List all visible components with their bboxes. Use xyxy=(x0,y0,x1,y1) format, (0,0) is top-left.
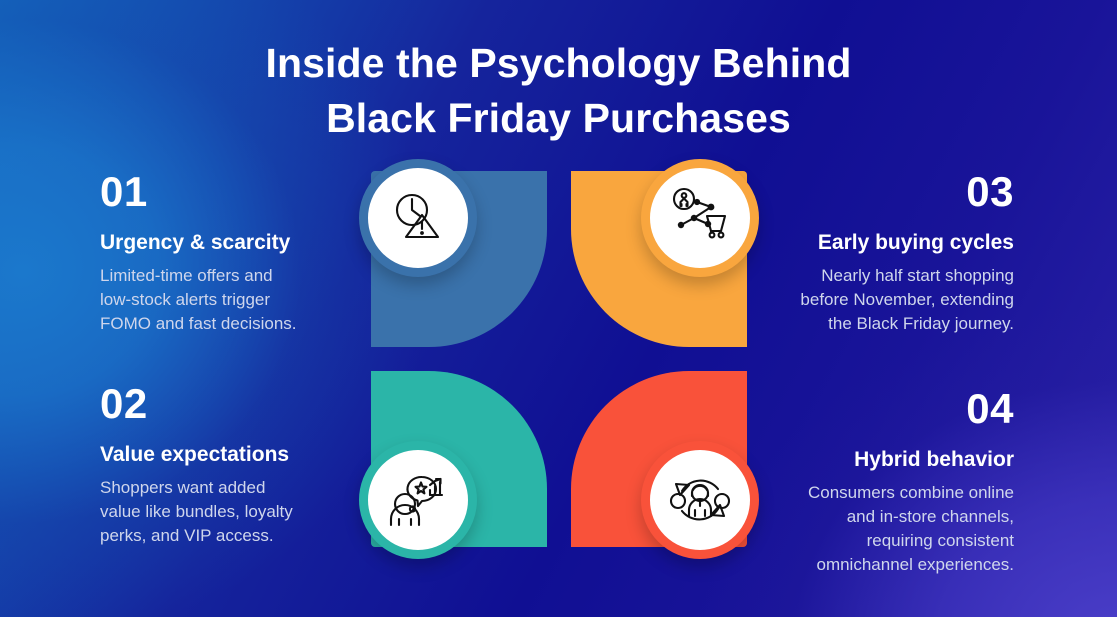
infographic-canvas: Inside the Psychology Behind Black Frida… xyxy=(0,0,1117,617)
block-title-04: Hybrid behavior xyxy=(714,447,1014,473)
customer-journey-cart-icon xyxy=(668,186,732,250)
donut-quadrant-03 xyxy=(571,171,747,347)
block-body-01: Limited-time offers and low-stock alerts… xyxy=(100,264,400,336)
block-number-04: 04 xyxy=(714,387,1014,431)
donut-quadrant-02 xyxy=(371,371,547,547)
callout-block-01: 01 Urgency & scarcity Limited-time offer… xyxy=(100,170,400,336)
block-number-03: 03 xyxy=(714,170,1014,214)
donut-quadrant-01 xyxy=(371,171,547,347)
block-title-03: Early buying cycles xyxy=(714,230,1014,256)
page-title: Inside the Psychology Behind Black Frida… xyxy=(0,36,1117,146)
block-title-02: Value expectations xyxy=(100,442,400,468)
block-body-02: Shoppers want added value like bundles, … xyxy=(100,476,400,548)
badge-01 xyxy=(359,159,477,277)
callout-block-02: 02 Value expectations Shoppers want adde… xyxy=(100,382,400,548)
block-body-03: Nearly half start shopping before Novemb… xyxy=(714,264,1014,336)
block-number-01: 01 xyxy=(100,170,400,214)
badge-04 xyxy=(641,441,759,559)
person-sync-cycle-icon xyxy=(668,468,732,532)
person-thought-growth-icon xyxy=(386,468,450,532)
center-donut-diagram xyxy=(371,171,747,547)
clock-warning-icon xyxy=(387,187,449,249)
block-body-04: Consumers combine online and in-store ch… xyxy=(714,481,1014,577)
badge-03 xyxy=(641,159,759,277)
callout-block-04: 04 Hybrid behavior Consumers combine onl… xyxy=(714,387,1014,577)
block-title-01: Urgency & scarcity xyxy=(100,230,400,256)
donut-quadrant-04 xyxy=(571,371,747,547)
callout-block-03: 03 Early buying cycles Nearly half start… xyxy=(714,170,1014,336)
block-number-02: 02 xyxy=(100,382,400,426)
badge-02 xyxy=(359,441,477,559)
